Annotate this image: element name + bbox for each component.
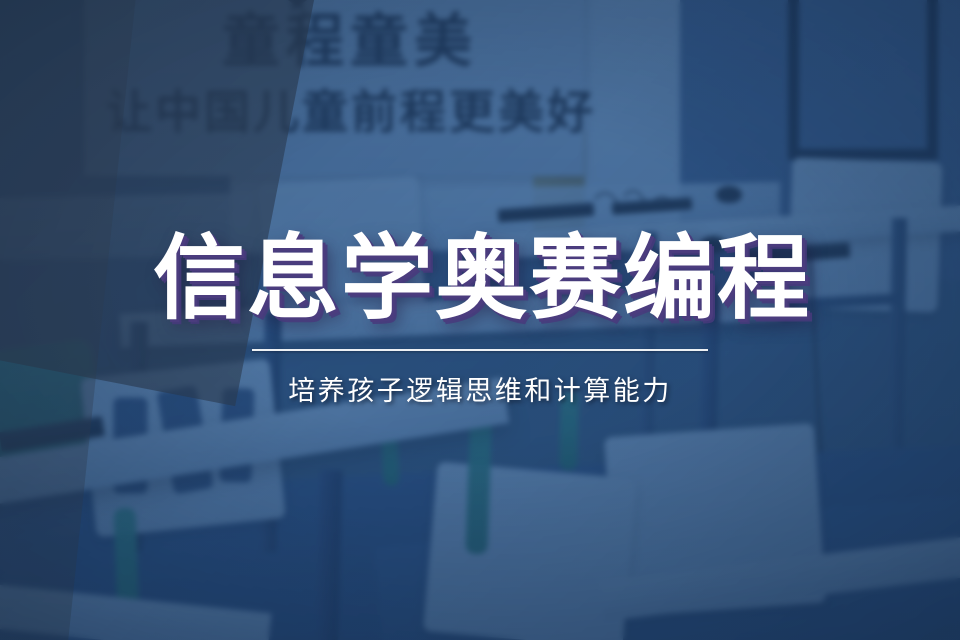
title-divider <box>252 349 708 351</box>
page-title: 信息学奥赛编程 <box>149 232 811 328</box>
banner-content: 信息学奥赛编程 培养孩子逻辑思维和计算能力 <box>0 0 960 640</box>
page-subtitle: 培养孩子逻辑思维和计算能力 <box>288 369 672 408</box>
promo-banner: ★ 童程童美 让中国儿童前程更美好 <box>0 0 960 640</box>
